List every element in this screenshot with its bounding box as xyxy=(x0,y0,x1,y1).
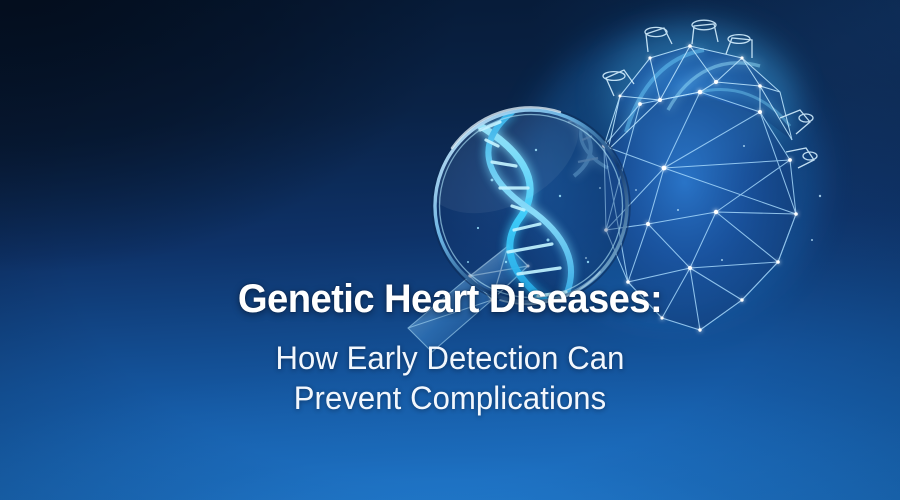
subtitle-line-1: How Early Detection Can xyxy=(14,338,887,378)
banner: Genetic Heart Diseases: How Early Detect… xyxy=(0,0,900,500)
hero-artwork xyxy=(0,0,900,500)
subtitle-line-2: Prevent Complications xyxy=(14,378,887,418)
text-block: Genetic Heart Diseases: How Early Detect… xyxy=(0,276,900,418)
page-title: Genetic Heart Diseases: xyxy=(20,276,880,322)
